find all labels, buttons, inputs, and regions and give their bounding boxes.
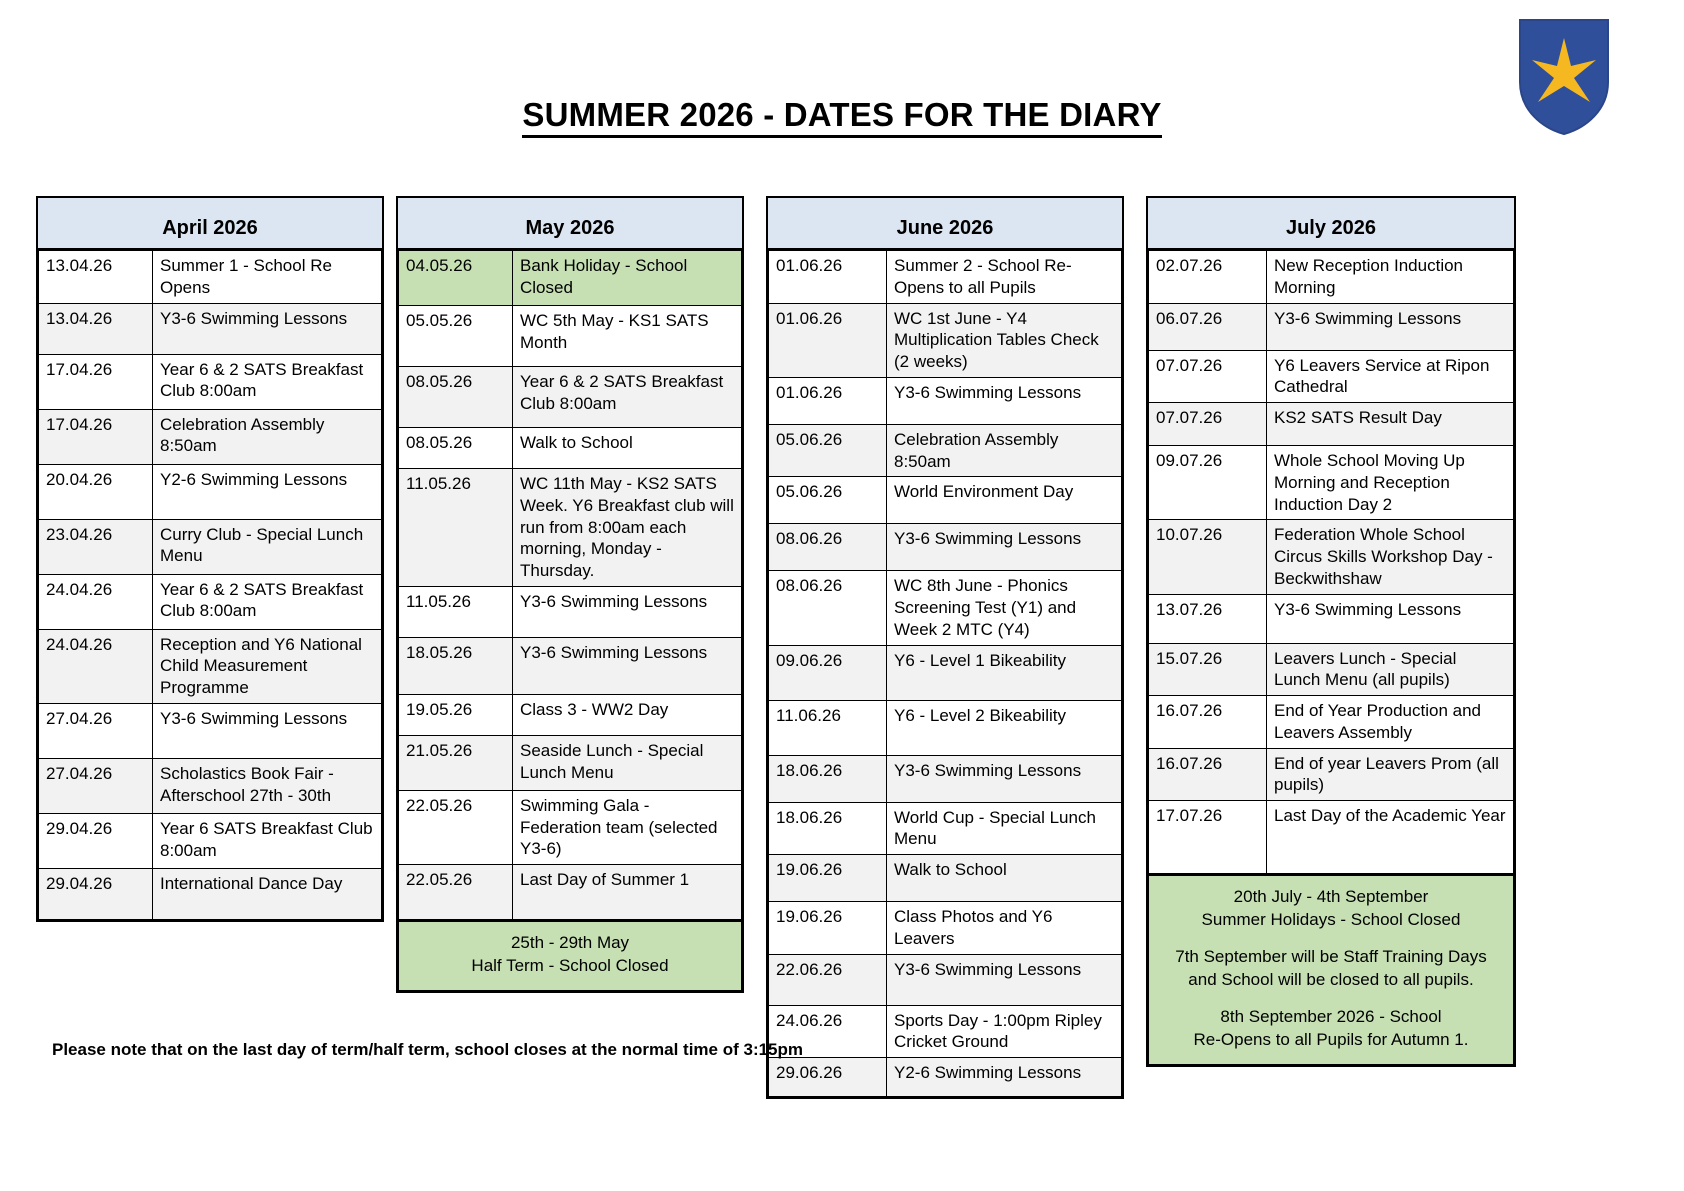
notice-line: 8th September 2026 - School (1157, 1006, 1505, 1029)
table-row: 09.06.26Y6 - Level 1 Bikeability (769, 645, 1122, 700)
table-row: 27.04.26Y3-6 Swimming Lessons (39, 703, 382, 758)
event-date: 10.07.26 (1149, 520, 1267, 594)
event-date: 27.04.26 (39, 703, 153, 758)
table-row: 05.06.26Celebration Assembly 8:50am (769, 424, 1122, 477)
event-date: 17.07.26 (1149, 801, 1267, 874)
event-date: 13.07.26 (1149, 594, 1267, 643)
event-description: Y3-6 Swimming Lessons (513, 586, 742, 637)
event-description: Celebration Assembly 8:50am (887, 424, 1122, 477)
table-row: 22.05.26Swimming Gala - Federation team … (399, 790, 742, 864)
table-row: 21.05.26Seaside Lunch - Special Lunch Me… (399, 735, 742, 790)
event-date: 11.05.26 (399, 469, 513, 587)
event-description: Class 3 - WW2 Day (513, 694, 742, 735)
table-row: 13.04.26Y3-6 Swimming Lessons (39, 303, 382, 354)
event-date: 20.04.26 (39, 464, 153, 519)
event-description: Reception and Y6 National Child Measurem… (153, 629, 382, 703)
event-date: 24.04.26 (39, 574, 153, 629)
table-row: 05.06.26World Environment Day (769, 477, 1122, 524)
event-description: Curry Club - Special Lunch Menu (153, 519, 382, 574)
event-description: Y6 - Level 2 Bikeability (887, 700, 1122, 755)
event-description: Bank Holiday - School Closed (513, 251, 742, 306)
table-row: 22.05.26Last Day of Summer 1 (399, 865, 742, 920)
table-row: 20.04.26Y2-6 Swimming Lessons (39, 464, 382, 519)
event-date: 17.04.26 (39, 354, 153, 409)
event-date: 08.05.26 (399, 367, 513, 428)
month-column-may: May 2026 04.05.26Bank Holiday - School C… (396, 196, 744, 993)
event-description: Y3-6 Swimming Lessons (887, 524, 1122, 571)
table-row: 06.07.26Y3-6 Swimming Lessons (1149, 303, 1514, 350)
table-row: 18.05.26Y3-6 Swimming Lessons (399, 637, 742, 694)
event-description: Y3-6 Swimming Lessons (1267, 594, 1514, 643)
table-row: 07.07.26KS2 SATS Result Day (1149, 403, 1514, 446)
event-date: 15.07.26 (1149, 643, 1267, 696)
event-description: Walk to School (887, 855, 1122, 902)
event-description: Last Day of Summer 1 (513, 865, 742, 920)
event-description: WC 8th June - Phonics Screening Test (Y1… (887, 571, 1122, 645)
event-description: International Dance Day (153, 868, 382, 919)
event-date: 22.06.26 (769, 954, 887, 1005)
event-date: 29.04.26 (39, 868, 153, 919)
event-date: 09.06.26 (769, 645, 887, 700)
event-description: Y6 - Level 1 Bikeability (887, 645, 1122, 700)
event-date: 01.06.26 (769, 377, 887, 424)
event-date: 13.04.26 (39, 251, 153, 304)
event-description: Y3-6 Swimming Lessons (513, 637, 742, 694)
month-table-june: 01.06.26Summer 2 - School Re-Opens to al… (768, 250, 1122, 1097)
table-row: 17.07.26Last Day of the Academic Year (1149, 801, 1514, 874)
event-date: 05.06.26 (769, 477, 887, 524)
event-description: Whole School Moving Up Morning and Recep… (1267, 446, 1514, 520)
event-date: 09.07.26 (1149, 446, 1267, 520)
notice-line: 7th September will be Staff Training Day… (1157, 946, 1505, 969)
event-description: Walk to School (513, 428, 742, 469)
event-date: 18.05.26 (399, 637, 513, 694)
table-row: 19.06.26Class Photos and Y6 Leavers (769, 902, 1122, 955)
table-row: 01.06.26Summer 2 - School Re-Opens to al… (769, 251, 1122, 304)
event-date: 18.06.26 (769, 755, 887, 802)
month-header-april: April 2026 (38, 198, 382, 250)
event-date: 13.04.26 (39, 303, 153, 354)
month-table-april: 13.04.26Summer 1 - School Re Opens13.04.… (38, 250, 382, 920)
event-description: Y3-6 Swimming Lessons (887, 755, 1122, 802)
event-date: 19.05.26 (399, 694, 513, 735)
event-date: 19.06.26 (769, 855, 887, 902)
month-header-june: June 2026 (768, 198, 1122, 250)
month-body-july: 02.07.26New Reception Induction Morning0… (1149, 251, 1514, 874)
table-row: 29.06.26Y2-6 Swimming Lessons (769, 1058, 1122, 1097)
table-row: 17.04.26Year 6 & 2 SATS Breakfast Club 8… (39, 354, 382, 409)
event-description: Leavers Lunch - Special Lunch Menu (all … (1267, 643, 1514, 696)
event-description: Y3-6 Swimming Lessons (1267, 303, 1514, 350)
event-description: KS2 SATS Result Day (1267, 403, 1514, 446)
table-row: 11.06.26Y6 - Level 2 Bikeability (769, 700, 1122, 755)
table-row: 19.06.26Walk to School (769, 855, 1122, 902)
table-row: 10.07.26Federation Whole School Circus S… (1149, 520, 1514, 594)
notice-line: and School will be closed to all pupils. (1157, 969, 1505, 992)
event-description: WC 1st June - Y4 Multiplication Tables C… (887, 303, 1122, 377)
event-date: 22.05.26 (399, 865, 513, 920)
event-description: End of year Leavers Prom (all pupils) (1267, 748, 1514, 801)
month-table-july: 02.07.26New Reception Induction Morning0… (1148, 250, 1514, 874)
event-description: Sports Day - 1:00pm Ripley Cricket Groun… (887, 1005, 1122, 1058)
month-notice-may: 25th - 29th MayHalf Term - School Closed (398, 920, 742, 991)
month-columns: April 2026 13.04.26Summer 1 - School Re … (36, 196, 1648, 1099)
event-date: 16.07.26 (1149, 748, 1267, 801)
event-date: 07.07.26 (1149, 403, 1267, 446)
event-description: Year 6 & 2 SATS Breakfast Club 8:00am (153, 354, 382, 409)
event-description: Summer 2 - School Re-Opens to all Pupils (887, 251, 1122, 304)
event-description: Seaside Lunch - Special Lunch Menu (513, 735, 742, 790)
footer-note: Please note that on the last day of term… (52, 1040, 803, 1060)
event-description: New Reception Induction Morning (1267, 251, 1514, 304)
event-description: Y3-6 Swimming Lessons (153, 303, 382, 354)
event-date: 29.06.26 (769, 1058, 887, 1097)
month-header-may: May 2026 (398, 198, 742, 250)
event-description: Summer 1 - School Re Opens (153, 251, 382, 304)
month-header-july: July 2026 (1148, 198, 1514, 250)
event-date: 23.04.26 (39, 519, 153, 574)
table-row: 11.05.26WC 11th May - KS2 SATS Week. Y6 … (399, 469, 742, 587)
event-date: 06.07.26 (1149, 303, 1267, 350)
event-date: 01.06.26 (769, 303, 887, 377)
table-row: 04.05.26Bank Holiday - School Closed (399, 251, 742, 306)
notice-line: 25th - 29th May (407, 932, 733, 955)
event-description: Celebration Assembly 8:50am (153, 409, 382, 464)
event-description: Year 6 SATS Breakfast Club 8:00am (153, 813, 382, 868)
event-date: 08.06.26 (769, 571, 887, 645)
table-row: 19.05.26Class 3 - WW2 Day (399, 694, 742, 735)
event-date: 19.06.26 (769, 902, 887, 955)
event-description: Class Photos and Y6 Leavers (887, 902, 1122, 955)
month-notice-july: 20th July - 4th SeptemberSummer Holidays… (1148, 874, 1514, 1065)
event-date: 02.07.26 (1149, 251, 1267, 304)
notice-line: Summer Holidays - School Closed (1157, 909, 1505, 932)
event-date: 01.06.26 (769, 251, 887, 304)
event-date: 11.06.26 (769, 700, 887, 755)
event-date: 22.05.26 (399, 790, 513, 864)
event-description: Y6 Leavers Service at Ripon Cathedral (1267, 350, 1514, 403)
event-description: WC 11th May - KS2 SATS Week. Y6 Breakfas… (513, 469, 742, 587)
table-row: 29.04.26Year 6 SATS Breakfast Club 8:00a… (39, 813, 382, 868)
event-date: 05.05.26 (399, 306, 513, 367)
event-description: Federation Whole School Circus Skills Wo… (1267, 520, 1514, 594)
table-row: 16.07.26End of year Leavers Prom (all pu… (1149, 748, 1514, 801)
event-date: 18.06.26 (769, 802, 887, 855)
table-row: 24.04.26Year 6 & 2 SATS Breakfast Club 8… (39, 574, 382, 629)
table-row: 24.06.26Sports Day - 1:00pm Ripley Crick… (769, 1005, 1122, 1058)
notice-line: Half Term - School Closed (407, 955, 733, 978)
event-date: 29.04.26 (39, 813, 153, 868)
event-date: 24.04.26 (39, 629, 153, 703)
table-row: 08.06.26Y3-6 Swimming Lessons (769, 524, 1122, 571)
event-date: 27.04.26 (39, 758, 153, 813)
notice-line: Re-Opens to all Pupils for Autumn 1. (1157, 1029, 1505, 1052)
event-description: Last Day of the Academic Year (1267, 801, 1514, 874)
month-body-june: 01.06.26Summer 2 - School Re-Opens to al… (769, 251, 1122, 1097)
event-date: 11.05.26 (399, 586, 513, 637)
event-date: 08.05.26 (399, 428, 513, 469)
table-row: 01.06.26Y3-6 Swimming Lessons (769, 377, 1122, 424)
month-column-july: July 2026 02.07.26New Reception Inductio… (1146, 196, 1516, 1067)
table-row: 18.06.26World Cup - Special Lunch Menu (769, 802, 1122, 855)
table-row: 08.06.26WC 8th June - Phonics Screening … (769, 571, 1122, 645)
month-table-may: 04.05.26Bank Holiday - School Closed05.0… (398, 250, 742, 920)
event-date: 16.07.26 (1149, 696, 1267, 749)
event-date: 17.04.26 (39, 409, 153, 464)
event-description: Swimming Gala - Federation team (selecte… (513, 790, 742, 864)
event-description: Y3-6 Swimming Lessons (887, 954, 1122, 1005)
month-body-may: 04.05.26Bank Holiday - School Closed05.0… (399, 251, 742, 920)
table-row: 13.07.26Y3-6 Swimming Lessons (1149, 594, 1514, 643)
event-date: 07.07.26 (1149, 350, 1267, 403)
table-row: 29.04.26International Dance Day (39, 868, 382, 919)
event-description: Year 6 & 2 SATS Breakfast Club 8:00am (513, 367, 742, 428)
event-description: Year 6 & 2 SATS Breakfast Club 8:00am (153, 574, 382, 629)
event-date: 21.05.26 (399, 735, 513, 790)
event-description: Y2-6 Swimming Lessons (887, 1058, 1122, 1097)
event-description: End of Year Production and Leavers Assem… (1267, 696, 1514, 749)
table-row: 18.06.26Y3-6 Swimming Lessons (769, 755, 1122, 802)
event-description: World Environment Day (887, 477, 1122, 524)
page-title: SUMMER 2026 - DATES FOR THE DIARY (522, 96, 1161, 138)
event-date: 08.06.26 (769, 524, 887, 571)
event-date: 04.05.26 (399, 251, 513, 306)
event-description: Y3-6 Swimming Lessons (153, 703, 382, 758)
month-column-june: June 2026 01.06.26Summer 2 - School Re-O… (766, 196, 1124, 1099)
table-row: 02.07.26New Reception Induction Morning (1149, 251, 1514, 304)
table-row: 27.04.26Scholastics Book Fair - Aftersch… (39, 758, 382, 813)
table-row: 07.07.26Y6 Leavers Service at Ripon Cath… (1149, 350, 1514, 403)
page-title-wrap: SUMMER 2026 - DATES FOR THE DIARY (0, 96, 1684, 138)
month-column-april: April 2026 13.04.26Summer 1 - School Re … (36, 196, 384, 922)
table-row: 13.04.26Summer 1 - School Re Opens (39, 251, 382, 304)
calendar-page: SUMMER 2026 - DATES FOR THE DIARY April … (0, 0, 1684, 1191)
month-body-april: 13.04.26Summer 1 - School Re Opens13.04.… (39, 251, 382, 920)
table-row: 23.04.26Curry Club - Special Lunch Menu (39, 519, 382, 574)
table-row: 22.06.26Y3-6 Swimming Lessons (769, 954, 1122, 1005)
table-row: 16.07.26End of Year Production and Leave… (1149, 696, 1514, 749)
table-row: 11.05.26Y3-6 Swimming Lessons (399, 586, 742, 637)
event-description: WC 5th May - KS1 SATS Month (513, 306, 742, 367)
event-description: World Cup - Special Lunch Menu (887, 802, 1122, 855)
table-row: 09.07.26Whole School Moving Up Morning a… (1149, 446, 1514, 520)
event-description: Y3-6 Swimming Lessons (887, 377, 1122, 424)
event-description: Y2-6 Swimming Lessons (153, 464, 382, 519)
table-row: 08.05.26Walk to School (399, 428, 742, 469)
table-row: 15.07.26Leavers Lunch - Special Lunch Me… (1149, 643, 1514, 696)
table-row: 01.06.26WC 1st June - Y4 Multiplication … (769, 303, 1122, 377)
table-row: 08.05.26Year 6 & 2 SATS Breakfast Club 8… (399, 367, 742, 428)
event-description: Scholastics Book Fair - Afterschool 27th… (153, 758, 382, 813)
event-date: 05.06.26 (769, 424, 887, 477)
notice-line: 20th July - 4th September (1157, 886, 1505, 909)
table-row: 05.05.26WC 5th May - KS1 SATS Month (399, 306, 742, 367)
table-row: 24.04.26Reception and Y6 National Child … (39, 629, 382, 703)
table-row: 17.04.26Celebration Assembly 8:50am (39, 409, 382, 464)
